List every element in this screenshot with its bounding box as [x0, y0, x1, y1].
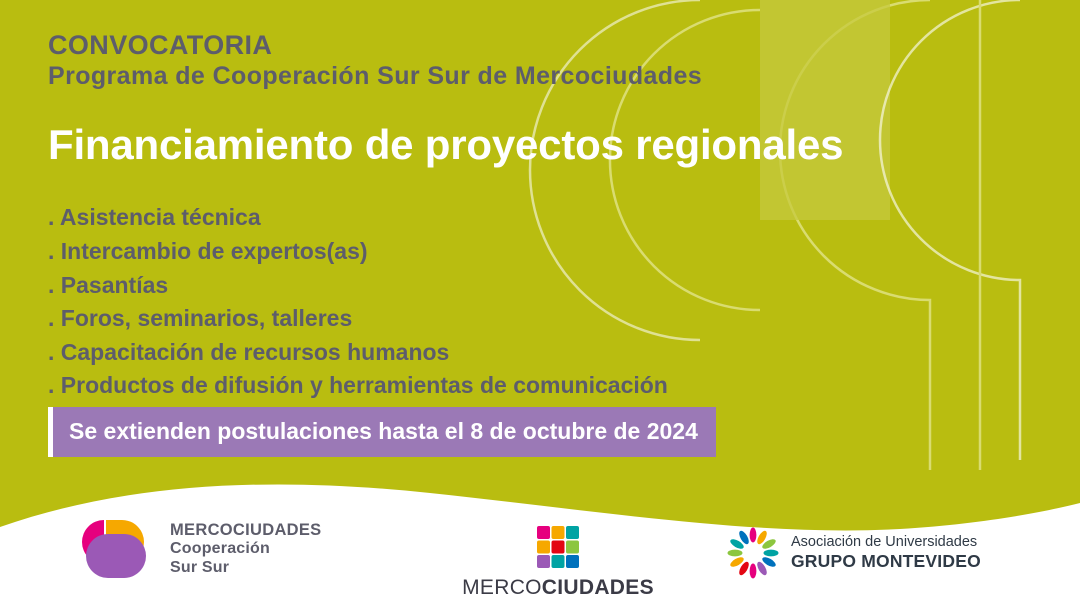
sursur-mark-icon [78, 518, 156, 580]
list-item: . Intercambio de expertos(as) [48, 235, 1040, 269]
list-item: . Productos de difusión y herramientas d… [48, 369, 1040, 403]
list-item: . Capacitación de recursos humanos [48, 336, 1040, 370]
kicker-line-2: Programa de Cooperación Sur Sur de Merco… [48, 62, 1040, 92]
page-title: Financiamiento de proyectos regionales [48, 121, 1040, 169]
logo-mercociudades-cooperacion-sur-sur: MERCOCIUDADES Cooperación Sur Sur [78, 518, 322, 580]
list-item: . Asistencia técnica [48, 201, 1040, 235]
augm-sun-icon [727, 527, 779, 579]
logo-mercociudades: MERCOCIUDADES [448, 522, 668, 600]
sursur-line-2: Cooperación [170, 540, 322, 559]
mercociudades-word-bold: CIUDADES [542, 576, 654, 599]
poster-content: CONVOCATORIA Programa de Cooperación Sur… [48, 30, 1040, 403]
list-item: . Foros, seminarios, talleres [48, 302, 1040, 336]
kicker-line-1: CONVOCATORIA [48, 30, 1040, 62]
poster-canvas: CONVOCATORIA Programa de Cooperación Sur… [0, 0, 1080, 607]
mercociudades-mark-icon [533, 522, 583, 572]
list-item: . Pasantías [48, 269, 1040, 303]
mercociudades-word-light: MERCO [462, 576, 542, 599]
logo-augm: Asociación de Universidades GRUPO MONTEV… [727, 527, 981, 579]
augm-logo-text: Asociación de Universidades GRUPO MONTEV… [791, 534, 981, 572]
kicker: CONVOCATORIA Programa de Cooperación Sur… [48, 30, 1040, 91]
sursur-line-3: Sur Sur [170, 559, 322, 578]
sursur-logo-text: MERCOCIUDADES Cooperación Sur Sur [170, 521, 322, 578]
augm-line-1: Asociación de Universidades [791, 534, 981, 551]
deadline-banner: Se extienden postulaciones hasta el 8 de… [48, 407, 716, 457]
bullet-list: . Asistencia técnica . Intercambio de ex… [48, 201, 1040, 402]
mercociudades-wordmark: MERCOCIUDADES [448, 576, 668, 600]
sursur-line-1: MERCOCIUDADES [170, 521, 322, 540]
augm-line-2: GRUPO MONTEVIDEO [791, 551, 981, 572]
